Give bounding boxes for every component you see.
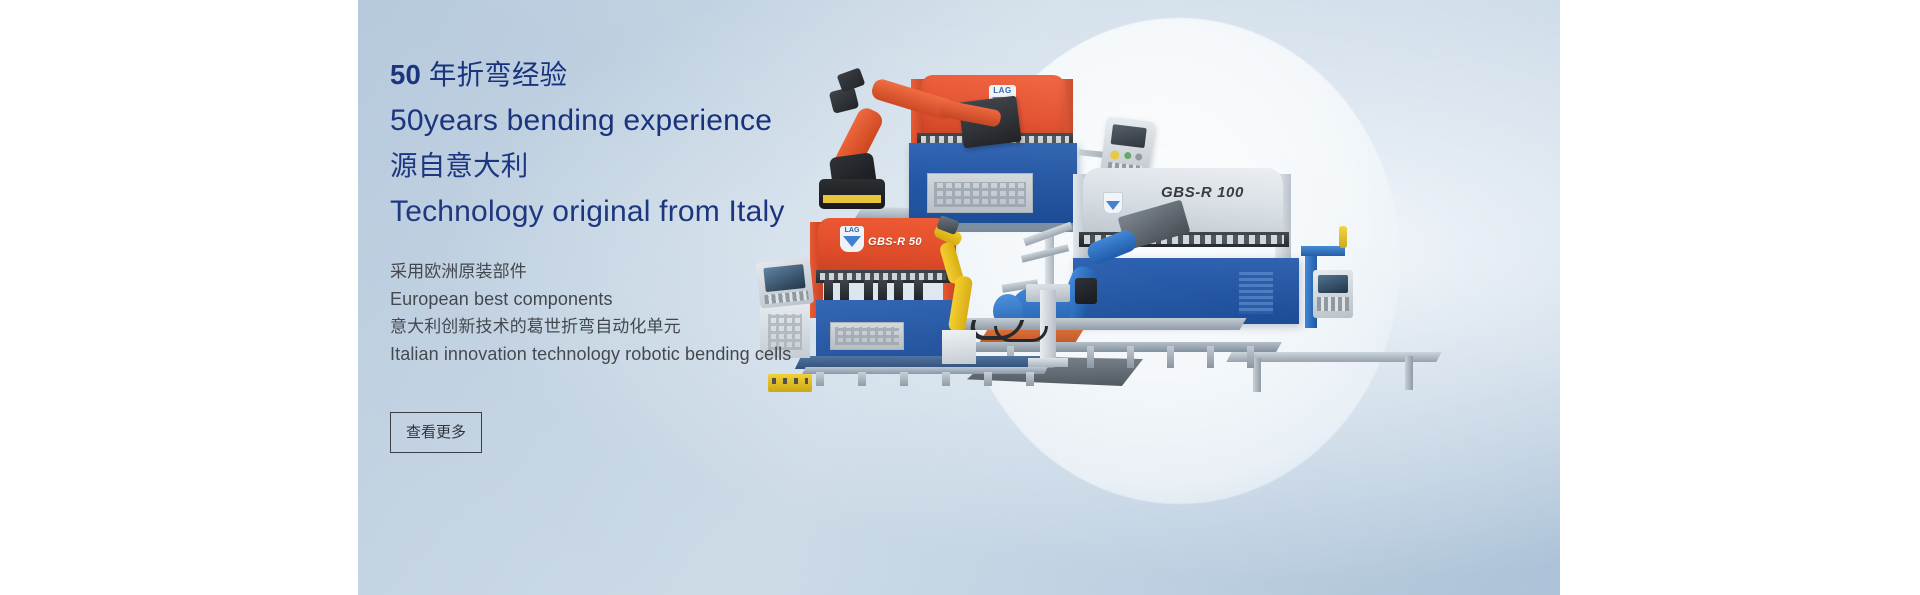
emergency-stop-icon — [1110, 150, 1120, 160]
pendant-screen — [1318, 275, 1348, 293]
banner-copy: 50 年折弯经验 50years bending experience 源自意大… — [390, 52, 1010, 368]
headline-block: 50 年折弯经验 50years bending experience 源自意大… — [390, 52, 1010, 234]
machine-model-label-gbs-r-100: GBS-R 100 — [1161, 184, 1244, 201]
headline-line-4: Technology original from Italy — [390, 189, 1010, 235]
start-button-icon — [1124, 152, 1132, 160]
lag-logo-icon — [1103, 192, 1123, 214]
subheadline-line-2: European best components — [390, 286, 1010, 314]
machine-vent-panel — [1239, 272, 1273, 314]
hero-banner: LAG GBS-R 100 — [358, 0, 1560, 595]
subheadline-line-3: 意大利创新技术的葛世折弯自动化单元 — [390, 313, 1010, 341]
headline-number: 50 — [390, 59, 421, 90]
headline-line-1: 50 年折弯经验 — [390, 52, 1010, 98]
subheadline-line-1: 采用欧洲原装部件 — [390, 258, 1010, 286]
signal-lamp-icon — [1339, 226, 1347, 248]
output-table-leg-right — [1405, 356, 1413, 390]
pendant-arm — [1301, 246, 1345, 256]
headline-line-3: 源自意大利 — [390, 143, 1010, 189]
headline-line-1-text: 年折弯经验 — [421, 59, 567, 90]
pendant-keypad — [1317, 297, 1349, 311]
rail-feet — [812, 372, 1032, 386]
part-manipulator — [1024, 278, 1072, 366]
headline-line-2: 50years bending experience — [390, 98, 1010, 144]
subheadline-block: 采用欧洲原装部件 European best components 意大利创新技… — [390, 258, 1010, 368]
yellow-pallet — [768, 374, 812, 392]
pendant-screen — [1111, 124, 1147, 148]
control-pendant — [1313, 270, 1353, 318]
subheadline-line-4: Italian innovation technology robotic be… — [390, 341, 1010, 369]
view-more-button[interactable]: 查看更多 — [390, 412, 482, 453]
